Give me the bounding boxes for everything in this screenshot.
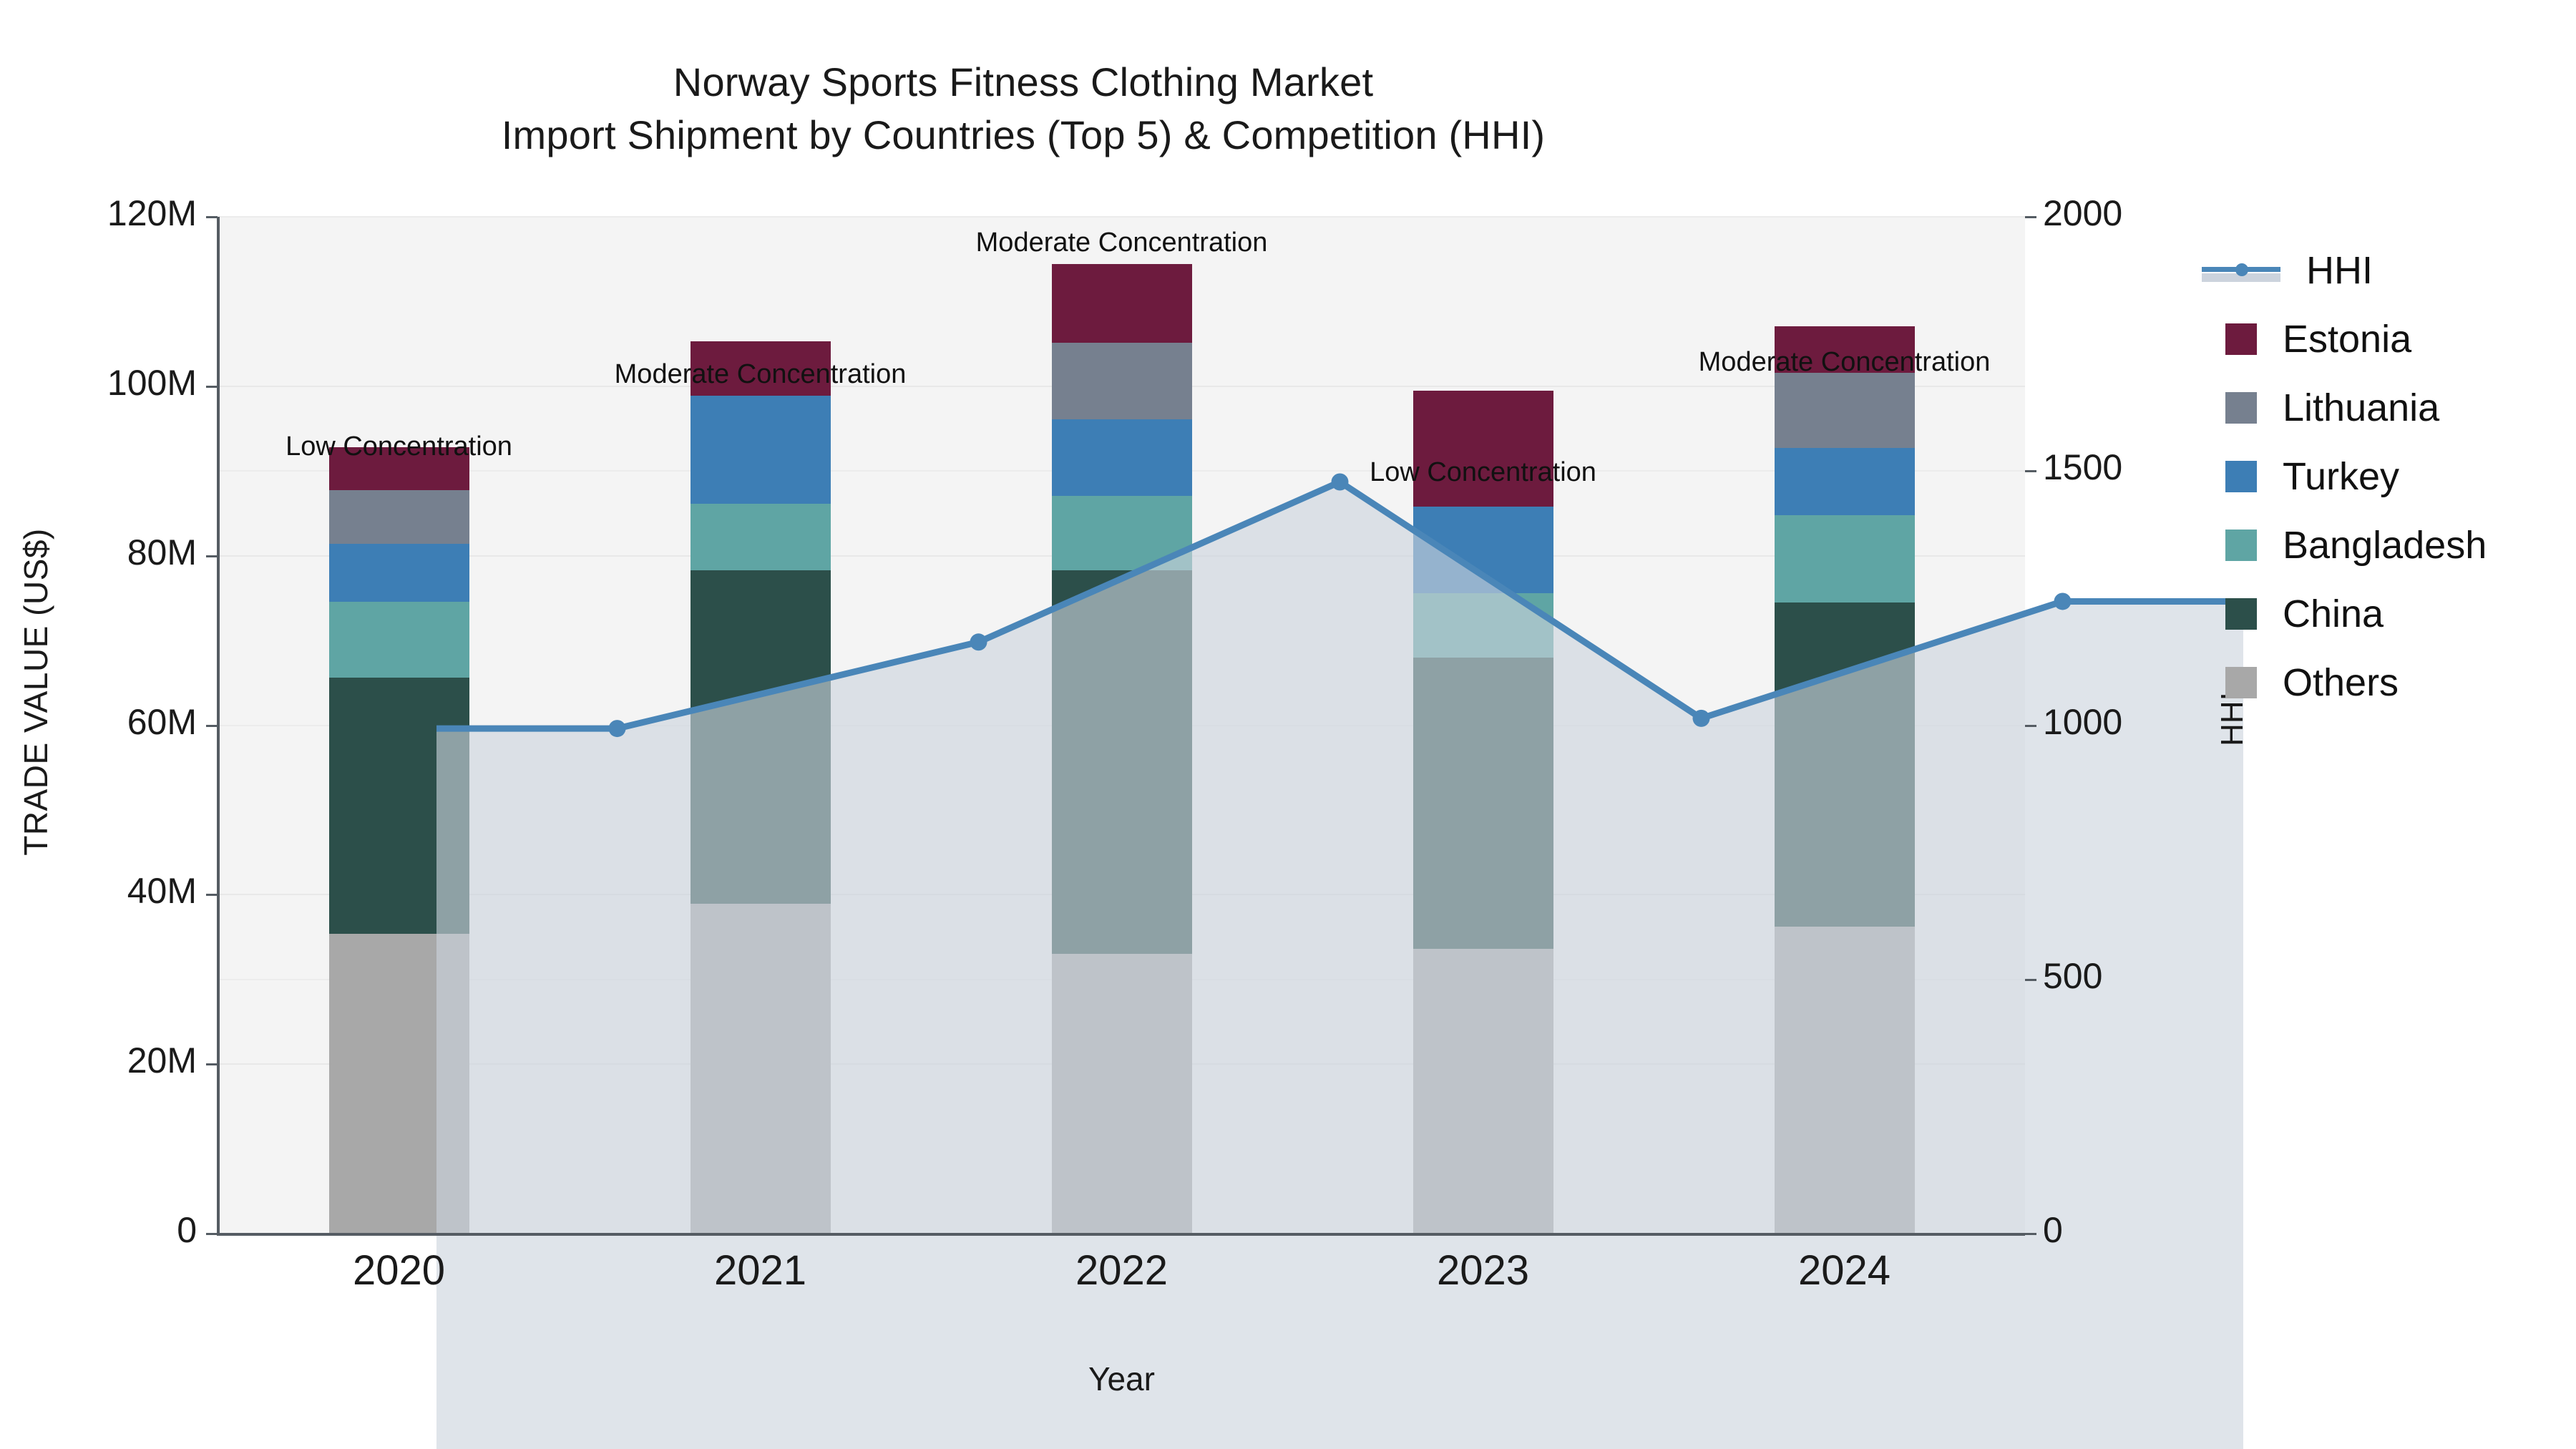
y-axis-left-tick-label: 60M <box>43 701 197 743</box>
legend-item-china[interactable]: China <box>2225 580 2569 648</box>
legend-item-bangladesh[interactable]: Bangladesh <box>2225 511 2569 580</box>
bar-segment-bangladesh-2024[interactable] <box>1775 515 1915 602</box>
annotation-2022: Moderate Concentration <box>976 228 1268 258</box>
legend-swatch-lithuania <box>2225 392 2257 424</box>
y-axis-left-tick-mark <box>206 386 218 388</box>
y-axis-right-tick-mark <box>2025 1233 2036 1235</box>
y-axis-left-tick-mark <box>206 725 218 727</box>
bar-segment-bangladesh-2022[interactable] <box>1052 496 1192 570</box>
y-axis-left-title: TRADE VALUE (US$) <box>16 477 55 907</box>
y-axis-left-tick-mark <box>206 894 218 896</box>
legend-item-turkey[interactable]: Turkey <box>2225 442 2569 511</box>
bar-segment-lithuania-2022[interactable] <box>1052 343 1192 419</box>
legend-label-turkey: Turkey <box>2283 454 2399 499</box>
bar-segment-bangladesh-2020[interactable] <box>329 602 469 678</box>
legend-swatch-china <box>2225 598 2257 630</box>
y-axis-right-tick-label: 0 <box>2043 1209 2063 1251</box>
legend-label-china: China <box>2283 592 2384 636</box>
legend-swatch-bangladesh <box>2225 530 2257 561</box>
bar-segment-others-2022[interactable] <box>1052 954 1192 1234</box>
x-axis-tick-label-2023: 2023 <box>1376 1246 1591 1294</box>
y-axis-right-tick-label: 2000 <box>2043 192 2122 234</box>
bar-segment-lithuania-2020[interactable] <box>329 490 469 544</box>
legend: HHIEstoniaLithuaniaTurkeyBangladeshChina… <box>2225 236 2569 717</box>
bar-segment-china-2023[interactable] <box>1413 658 1553 949</box>
x-axis-line <box>218 1233 2025 1236</box>
hhi-marker-2020[interactable] <box>609 720 626 737</box>
legend-label-estonia: Estonia <box>2283 317 2411 361</box>
bar-segment-estonia-2023[interactable] <box>1413 391 1553 507</box>
y-axis-right-tick-mark <box>2025 470 2036 472</box>
bar-segment-bangladesh-2021[interactable] <box>691 504 831 570</box>
bar-segment-china-2022[interactable] <box>1052 570 1192 954</box>
y-axis-left-tick-mark <box>206 216 218 218</box>
bar-segment-turkey-2024[interactable] <box>1775 448 1915 515</box>
x-axis-tick-label-2022: 2022 <box>1015 1246 1229 1294</box>
y-axis-left-tick-label: 20M <box>43 1040 197 1081</box>
x-axis-tick-label-2024: 2024 <box>1737 1246 1952 1294</box>
gridline-secondary <box>218 216 2025 218</box>
bar-segment-turkey-2023[interactable] <box>1413 507 1553 593</box>
x-axis-title: Year <box>218 1360 2025 1398</box>
y-axis-left-tick-mark <box>206 1063 218 1065</box>
hhi-marker-2024[interactable] <box>2054 592 2072 610</box>
legend-line-marker <box>2235 263 2248 276</box>
legend-label-hhi: HHI <box>2306 248 2373 293</box>
bar-segment-bangladesh-2023[interactable] <box>1413 593 1553 658</box>
legend-item-lithuania[interactable]: Lithuania <box>2225 374 2569 442</box>
y-axis-right-tick-mark <box>2025 216 2036 218</box>
bar-segment-turkey-2022[interactable] <box>1052 419 1192 496</box>
y-axis-left-tick-mark <box>206 1233 218 1235</box>
y-axis-left-tick-label: 100M <box>43 362 197 404</box>
legend-swatch-estonia <box>2225 323 2257 355</box>
annotation-2020: Low Concentration <box>286 431 512 462</box>
y-axis-left-tick-label: 80M <box>43 532 197 573</box>
legend-label-bangladesh: Bangladesh <box>2283 523 2487 567</box>
hhi-marker-2022[interactable] <box>1332 473 1349 490</box>
x-axis-tick-label-2021: 2021 <box>653 1246 868 1294</box>
y-axis-right-tick-label: 500 <box>2043 955 2102 997</box>
bar-segment-others-2024[interactable] <box>1775 927 1915 1234</box>
y-axis-right-tick-label: 1000 <box>2043 701 2122 743</box>
y-axis-left-tick-mark <box>206 555 218 557</box>
y-axis-right-tick-label: 1500 <box>2043 447 2122 488</box>
legend-label-others: Others <box>2283 660 2399 705</box>
x-axis-tick-label-2020: 2020 <box>292 1246 507 1294</box>
y-axis-left-tick-label: 40M <box>43 870 197 912</box>
annotation-2023: Low Concentration <box>1370 457 1596 488</box>
legend-line-icon <box>2202 255 2280 286</box>
chart-canvas: Norway Sports Fitness Clothing Market Im… <box>0 0 2576 1449</box>
y-axis-left-tick-label: 0 <box>43 1209 197 1251</box>
bar-segment-turkey-2020[interactable] <box>329 544 469 602</box>
bar-segment-others-2023[interactable] <box>1413 949 1553 1234</box>
hhi-marker-2021[interactable] <box>970 633 987 650</box>
legend-swatch-others <box>2225 667 2257 698</box>
legend-swatch-turkey <box>2225 461 2257 492</box>
legend-item-others[interactable]: Others <box>2225 648 2569 717</box>
bar-segment-others-2020[interactable] <box>329 934 469 1234</box>
chart-subtitle: Import Shipment by Countries (Top 5) & C… <box>0 109 2046 162</box>
annotation-2021: Moderate Concentration <box>615 359 907 390</box>
chart-title: Norway Sports Fitness Clothing Market <box>0 56 2046 109</box>
annotation-2024: Moderate Concentration <box>1699 347 1991 378</box>
bar-segment-china-2024[interactable] <box>1775 602 1915 927</box>
bar-segment-lithuania-2024[interactable] <box>1775 373 1915 448</box>
bar-segment-china-2020[interactable] <box>329 678 469 934</box>
legend-item-estonia[interactable]: Estonia <box>2225 305 2569 374</box>
legend-label-lithuania: Lithuania <box>2283 386 2439 430</box>
chart-title-block: Norway Sports Fitness Clothing Market Im… <box>0 56 2046 162</box>
y-axis-left-tick-label: 120M <box>43 192 197 234</box>
bar-segment-turkey-2021[interactable] <box>691 396 831 504</box>
y-axis-right-tick-mark <box>2025 725 2036 727</box>
y-axis-right-tick-mark <box>2025 979 2036 981</box>
legend-item-hhi[interactable]: HHI <box>2225 236 2569 305</box>
bar-segment-others-2021[interactable] <box>691 904 831 1234</box>
bar-segment-china-2021[interactable] <box>691 570 831 904</box>
bar-segment-estonia-2022[interactable] <box>1052 264 1192 343</box>
